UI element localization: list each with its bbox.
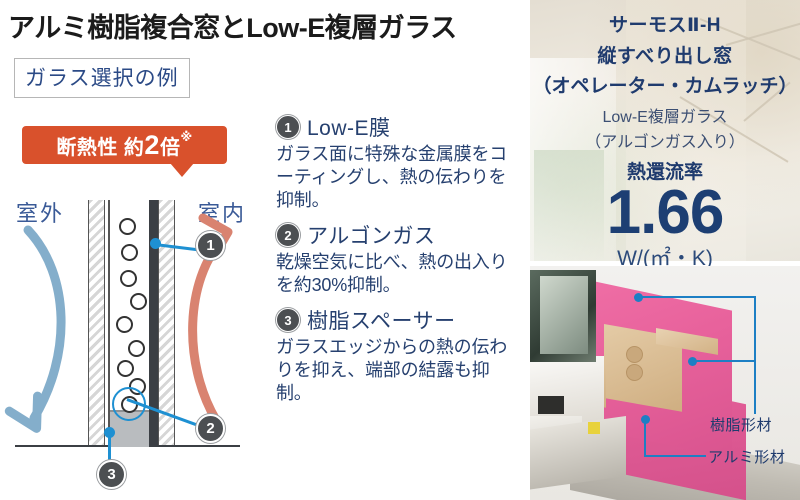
feature-1-number: 1 [276, 115, 300, 139]
argon-bubble [116, 316, 133, 333]
badge-suffix: 倍 [160, 137, 181, 159]
feature-item-1: 1 Low-E膜 ガラス面に特殊な金属膜をコーティングし、熱の伝わりを抑制。 [276, 112, 524, 212]
callout-label-resin: 樹脂形材 [710, 414, 772, 435]
product-info: サーモスⅡ-H 縦すべり出し窓 （オペレーター・カムラッチ） Low-E複層ガラ… [530, 0, 800, 272]
badge-text: 断熱性 約2倍※ [56, 130, 192, 161]
feature-item-3: 3 樹脂スペーサー ガラスエッジからの熱の伝わりを抑え、端部の結露も抑制。 [276, 305, 524, 405]
product-glass: Low-E複層ガラス [530, 103, 800, 127]
feature-2-description: 乾燥空気に比べ、熱の出入りを約30%抑制。 [276, 251, 524, 297]
diagram-marker-1-label: 1 [206, 237, 214, 254]
feature-item-2: 2 アルゴンガス 乾燥空気に比べ、熱の出入りを約30%抑制。 [276, 220, 524, 297]
feature-1-description: ガラス面に特殊な金属膜をコーティングし、熱の伝わりを抑制。 [276, 143, 524, 212]
badge-body: 断熱性 約2倍※ [22, 126, 227, 164]
callout-line-resin-v [754, 296, 756, 414]
feature-2-title: アルゴンガス [307, 220, 435, 250]
diagram-marker-1: 1 [196, 231, 225, 260]
product-variant: （オペレーター・カムラッチ） [530, 71, 800, 98]
photo-hole [626, 346, 643, 363]
callout-label-aluminum: アルミ形材 [708, 446, 785, 467]
product-glass-sub: （アルゴンガス入り） [530, 128, 800, 152]
callout-line-aluminum-v [644, 419, 646, 457]
feature-2-number: 2 [276, 223, 300, 247]
argon-bubble [120, 270, 137, 287]
feature-1-title: Low-E膜 [307, 112, 391, 142]
argon-bubble [130, 293, 147, 310]
argon-bubble [119, 218, 136, 235]
glass-cross-section [70, 200, 185, 460]
insulation-badge: 断熱性 約2倍※ [22, 126, 227, 172]
feature-1-header: 1 Low-E膜 [276, 112, 524, 142]
callout-line-resin-h2 [692, 360, 756, 362]
product-type: 縦すべり出し窓 [530, 41, 800, 68]
example-label-text: ガラス選択の例 [25, 67, 179, 90]
cavity-edge-line [108, 200, 110, 445]
infographic-page: アルミ樹脂複合窓とLow‐E複層ガラス ガラス選択の例 断熱性 約2倍※ 室外 … [0, 0, 800, 500]
diagram-marker-2-label: 2 [206, 420, 214, 437]
argon-bubble [121, 244, 138, 261]
diagram-marker-2: 2 [196, 414, 225, 443]
badge-note: ※ [180, 130, 192, 144]
feature-2-header: 2 アルゴンガス [276, 220, 524, 250]
feature-list: 1 Low-E膜 ガラス面に特殊な金属膜をコーティングし、熱の伝わりを抑制。 2… [276, 112, 524, 413]
photo-sash-glass [540, 276, 588, 354]
photo-yellow-detail [588, 422, 600, 434]
photo-hole [626, 364, 643, 381]
badge-prefix: 断熱性 約 [56, 137, 144, 159]
badge-value: 2 [144, 130, 160, 160]
photo-dark-detail [538, 396, 564, 414]
diagram-marker-3: 3 [97, 460, 126, 489]
page-title: アルミ樹脂複合窓とLow‐E複層ガラス [8, 6, 528, 45]
outer-glass-pane [88, 200, 105, 445]
inner-glass-pane [158, 200, 175, 445]
callout-line-aluminum-h [644, 455, 706, 457]
product-name: サーモスⅡ-H [530, 10, 800, 37]
example-label-box: ガラス選択の例 [14, 58, 190, 98]
diagram-marker-3-label: 3 [107, 466, 115, 483]
argon-bubble [117, 360, 134, 377]
metric-value: 1.66 [530, 184, 800, 241]
feature-3-title: 樹脂スペーサー [307, 305, 456, 335]
feature-3-number: 3 [276, 308, 300, 332]
argon-bubble [128, 340, 145, 357]
feature-3-header: 3 樹脂スペーサー [276, 305, 524, 335]
badge-pointer-icon [170, 163, 194, 177]
callout-line-resin-h1 [638, 296, 756, 298]
feature-3-description: ガラスエッジからの熱の伝わりを抑え、端部の結露も抑制。 [276, 336, 524, 405]
